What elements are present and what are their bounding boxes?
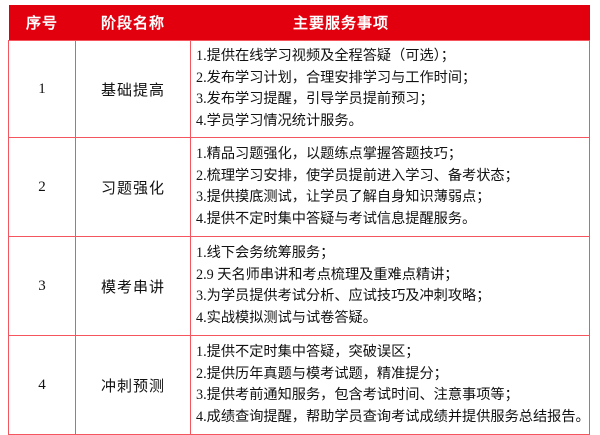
row-stage-cell: 模考串讲 [76,237,191,336]
table-body: 1 基础提高 1.提供在线学习视频及全程答疑（可选）； 2.发布学习计划，合理安… [9,41,590,435]
row-items-cell: 1.线下会务统筹服务； 2.9 天名师串讲和考点梳理及重难点精讲； 3.为学员提… [191,237,590,336]
column-header-index: 序号 [9,5,76,41]
row-index-cell: 1 [9,41,76,138]
list-item: 1.精品习题强化，以题练点掌握答题技巧； [196,144,585,166]
table-header: 序号 阶段名称 主要服务事项 [9,5,590,41]
list-item: 2.梳理学习安排，使学员提前进入学习、备考状态； [196,166,585,188]
document-page: 序号 阶段名称 主要服务事项 1 基础提高 1.提供在线学习视频及全程答疑（可选… [0,0,600,407]
list-item: 2.9 天名师串讲和考点梳理及重难点精讲； [196,265,585,287]
list-item: 1.线下会务统筹服务； [196,243,585,265]
list-item: 3.提供摸底测试，让学员了解自身知识薄弱点； [196,187,585,209]
service-item-list: 1.线下会务统筹服务； 2.9 天名师串讲和考点梳理及重难点精讲； 3.为学员提… [196,243,585,329]
list-item: 3.发布学习提醒，引导学员提前预习； [196,89,585,111]
table-row: 1 基础提高 1.提供在线学习视频及全程答疑（可选）； 2.发布学习计划，合理安… [9,41,590,138]
list-item: 4.成绩查询提醒，帮助学员查询考试成绩并提供服务总结报告。 [196,407,585,429]
row-items-cell: 1.精品习题强化，以题练点掌握答题技巧； 2.梳理学习安排，使学员提前进入学习、… [191,138,590,237]
list-item: 1.提供在线学习视频及全程答疑（可选）； [196,46,585,68]
row-stage-cell: 基础提高 [76,41,191,138]
column-header-stage: 阶段名称 [76,5,191,41]
table-row: 2 习题强化 1.精品习题强化，以题练点掌握答题技巧； 2.梳理学习安排，使学员… [9,138,590,237]
row-stage-cell: 冲刺预测 [76,336,191,435]
row-items-cell: 1.提供在线学习视频及全程答疑（可选）； 2.发布学习计划，合理安排学习与工作时… [191,41,590,138]
list-item: 4.学员学习情况统计服务。 [196,111,585,133]
list-item: 2.提供历年真题与模考试题，精准提分； [196,364,585,386]
table-header-row: 序号 阶段名称 主要服务事项 [9,5,590,41]
table-row: 3 模考串讲 1.线下会务统筹服务； 2.9 天名师串讲和考点梳理及重难点精讲；… [9,237,590,336]
row-index-cell: 2 [9,138,76,237]
row-items-cell: 1.提供不定时集中答疑，突破误区； 2.提供历年真题与模考试题，精准提分； 3.… [191,336,590,435]
service-item-list: 1.精品习题强化，以题练点掌握答题技巧； 2.梳理学习安排，使学员提前进入学习、… [196,144,585,230]
service-stage-table: 序号 阶段名称 主要服务事项 1 基础提高 1.提供在线学习视频及全程答疑（可选… [8,5,590,435]
list-item: 2.发布学习计划，合理安排学习与工作时间； [196,68,585,90]
list-item: 4.提供不定时集中答疑与考试信息提醒服务。 [196,209,585,231]
list-item: 1.提供不定时集中答疑，突破误区； [196,342,585,364]
service-item-list: 1.提供不定时集中答疑，突破误区； 2.提供历年真题与模考试题，精准提分； 3.… [196,342,585,428]
row-index-cell: 3 [9,237,76,336]
column-header-items: 主要服务事项 [191,5,590,41]
table-row: 4 冲刺预测 1.提供不定时集中答疑，突破误区； 2.提供历年真题与模考试题，精… [9,336,590,435]
row-stage-cell: 习题强化 [76,138,191,237]
row-index-cell: 4 [9,336,76,435]
list-item: 4.实战模拟测试与试卷答疑。 [196,308,585,330]
service-item-list: 1.提供在线学习视频及全程答疑（可选）； 2.发布学习计划，合理安排学习与工作时… [196,46,585,132]
list-item: 3.提供考前通知服务，包含考试时间、注意事项等； [196,385,585,407]
list-item: 3.为学员提供考试分析、应试技巧及冲刺攻略； [196,286,585,308]
